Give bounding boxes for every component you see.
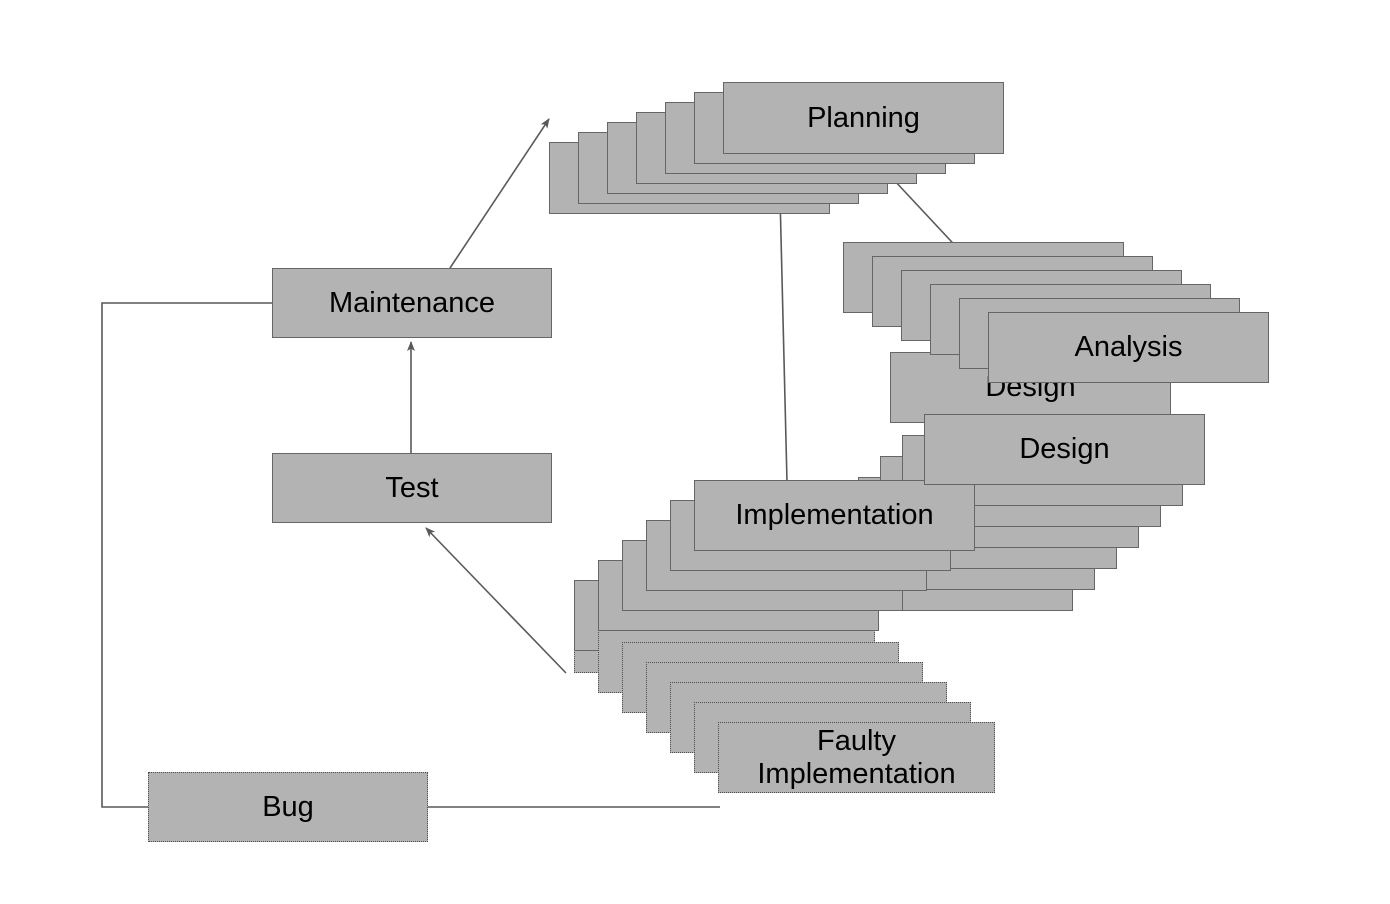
edge-implementation-to-test xyxy=(426,528,566,673)
node-analysis[interactable]: Analysis xyxy=(988,312,1269,383)
node-implementation[interactable]: Implementation xyxy=(694,480,975,551)
node-bug[interactable]: Bug xyxy=(148,772,428,842)
edge-maintenance-to-planning xyxy=(450,119,549,268)
node-test[interactable]: Test xyxy=(272,453,552,523)
node-design2[interactable]: Design xyxy=(924,414,1205,485)
node-maintenance[interactable]: Maintenance xyxy=(272,268,552,338)
diagram-canvas: AnalysisDesignDesignPlanningFaulty Imple… xyxy=(0,0,1390,904)
node-faulty[interactable]: Faulty Implementation xyxy=(718,722,995,793)
edge-maintenance-to-bug xyxy=(102,303,272,807)
node-planning[interactable]: Planning xyxy=(723,82,1004,154)
